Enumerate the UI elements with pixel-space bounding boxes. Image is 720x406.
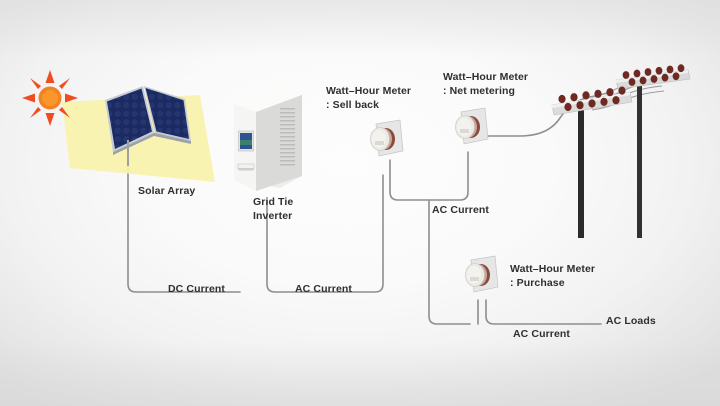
label-ac-current-inverter: AC Current (295, 282, 352, 296)
meter-net-metering (447, 106, 493, 152)
label-ac-current-loads: AC Current (513, 327, 570, 341)
label-grid-tie-inverter: Grid Tie Inverter (253, 195, 293, 224)
utility-poles (540, 58, 720, 238)
label-solar-array: Solar Array (138, 184, 195, 198)
solar-array-mast (127, 140, 129, 166)
wire-purchase-to-ac-loads (486, 300, 601, 324)
crossarm-near (552, 87, 632, 116)
grid-tie-inverter (228, 78, 308, 203)
solar-array-panel (88, 84, 198, 169)
meter-sell-back (362, 118, 408, 164)
solar-grid-tie-diagram: Solar Array Grid Tie Inverter DC Current… (0, 0, 720, 406)
meter-purchase (457, 254, 503, 300)
label-ac-current-meters: AC Current (432, 203, 489, 217)
label-meter-net-metering: Watt–Hour Meter : Net metering (443, 70, 528, 99)
label-ac-loads: AC Loads (606, 314, 656, 328)
label-dc-current: DC Current (168, 282, 225, 296)
crossarm-far (616, 64, 690, 89)
label-meter-sell-back: Watt–Hour Meter : Sell back (326, 84, 411, 113)
sun-icon (22, 70, 78, 126)
label-meter-purchase: Watt–Hour Meter : Purchase (510, 262, 595, 291)
